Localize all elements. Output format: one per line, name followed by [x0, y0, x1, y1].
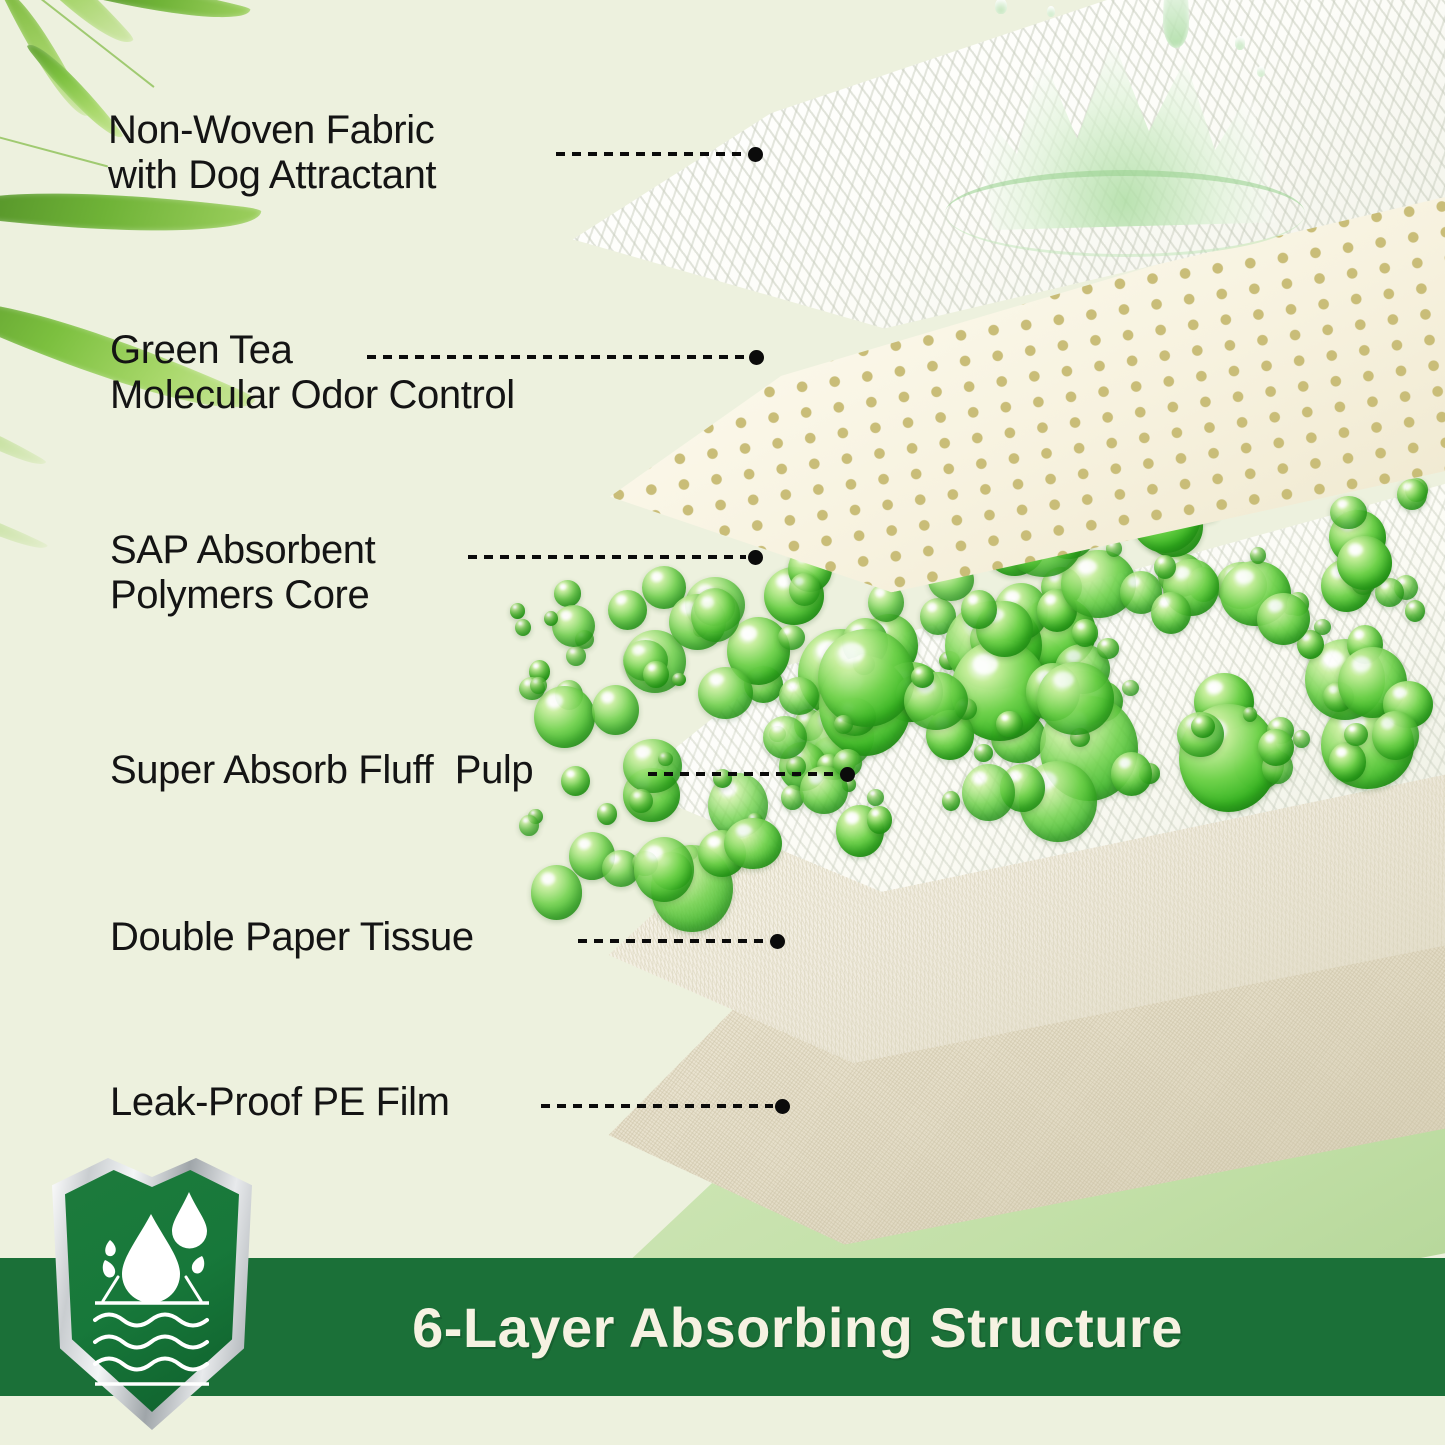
sap-bead	[534, 686, 595, 748]
callout-label-line2: Molecular Odor Control	[110, 373, 515, 418]
sap-bead	[1111, 752, 1153, 796]
sap-bead	[1191, 715, 1215, 738]
callout-label-line1: Double Paper Tissue	[110, 915, 474, 960]
sap-bead	[911, 666, 935, 689]
sap-bead	[867, 789, 884, 807]
shield-graphic	[65, 1170, 239, 1412]
sap-bead	[1337, 536, 1392, 590]
sap-bead	[1314, 619, 1331, 635]
sap-bead	[962, 764, 1015, 822]
sap-bead	[1151, 592, 1191, 634]
sap-bead	[552, 605, 595, 647]
sap-bead	[554, 580, 581, 607]
sap-bead	[789, 573, 820, 606]
leader-line-sap-absorbent-core	[468, 547, 768, 567]
water-splash-icon	[935, 0, 1355, 260]
sap-bead	[698, 667, 753, 719]
callout-label-line1: Leak-Proof PE Film	[110, 1080, 450, 1125]
sap-bead	[1372, 711, 1419, 761]
callout-sap-absorbent-core: SAP Absorbent Polymers Core	[110, 528, 375, 618]
sap-bead	[1258, 729, 1294, 766]
callout-label-line1: Super Absorb Fluff Pulp	[110, 748, 533, 793]
sap-bead	[531, 865, 583, 919]
sap-bead	[634, 837, 694, 902]
sap-bead	[1122, 680, 1139, 696]
sap-bead	[510, 603, 525, 619]
sap-bead	[608, 590, 647, 630]
leader-line-leak-proof-pe-film	[541, 1096, 795, 1116]
product-infographic: Non-Woven Fabric with Dog Attractant Gre…	[0, 0, 1445, 1445]
callout-label-line1: Non-Woven Fabric	[108, 108, 436, 153]
sap-bead	[974, 744, 993, 762]
sap-bead	[763, 716, 807, 759]
sap-bead	[1097, 638, 1120, 659]
callout-label-line2: Polymers Core	[110, 573, 375, 618]
sap-bead	[942, 791, 960, 811]
sap-bead	[643, 661, 669, 689]
leader-line-double-paper-tissue	[578, 931, 790, 951]
sap-bead	[1405, 600, 1425, 622]
sap-bead	[1397, 479, 1427, 510]
sap-bead	[1250, 547, 1266, 564]
sap-bead	[530, 677, 547, 695]
sap-bead	[566, 646, 587, 667]
callout-double-paper-tissue: Double Paper Tissue	[110, 915, 474, 960]
sap-bead	[818, 629, 915, 727]
leader-line-green-tea-odor-control	[367, 347, 769, 367]
sap-bead	[1072, 619, 1098, 646]
sap-bead	[515, 619, 531, 636]
sap-bead	[724, 818, 781, 870]
sap-bead	[867, 806, 893, 834]
callout-green-tea-odor-control: Green Tea Molecular Odor Control	[110, 328, 515, 418]
sap-bead	[834, 715, 853, 734]
callout-super-absorb-fluff-pulp: Super Absorb Fluff Pulp	[110, 748, 533, 793]
sap-bead	[778, 625, 805, 650]
sap-bead	[597, 803, 617, 825]
sap-bead	[1293, 730, 1310, 748]
callout-label-line2: with Dog Attractant	[108, 153, 436, 198]
sap-bead	[1330, 496, 1367, 529]
sap-bead	[1257, 593, 1310, 645]
sap-bead	[672, 673, 686, 686]
sap-bead	[691, 589, 739, 642]
sap-bead	[561, 766, 590, 796]
callout-leak-proof-pe-film: Leak-Proof PE Film	[110, 1080, 450, 1125]
sap-bead	[779, 677, 819, 715]
sap-bead	[592, 685, 639, 736]
water-drop-shield-icon	[52, 1158, 252, 1430]
callout-non-woven-fabric: Non-Woven Fabric with Dog Attractant	[108, 108, 436, 198]
sap-bead	[519, 815, 539, 837]
sap-bead	[996, 711, 1023, 737]
sap-bead	[629, 789, 652, 813]
leader-line-non-woven-fabric	[556, 144, 768, 164]
leader-line-super-absorb-fluff-pulp	[648, 764, 860, 784]
sap-bead	[1037, 662, 1115, 735]
callout-label-line1: SAP Absorbent	[110, 528, 375, 573]
sap-bead	[1329, 742, 1367, 782]
